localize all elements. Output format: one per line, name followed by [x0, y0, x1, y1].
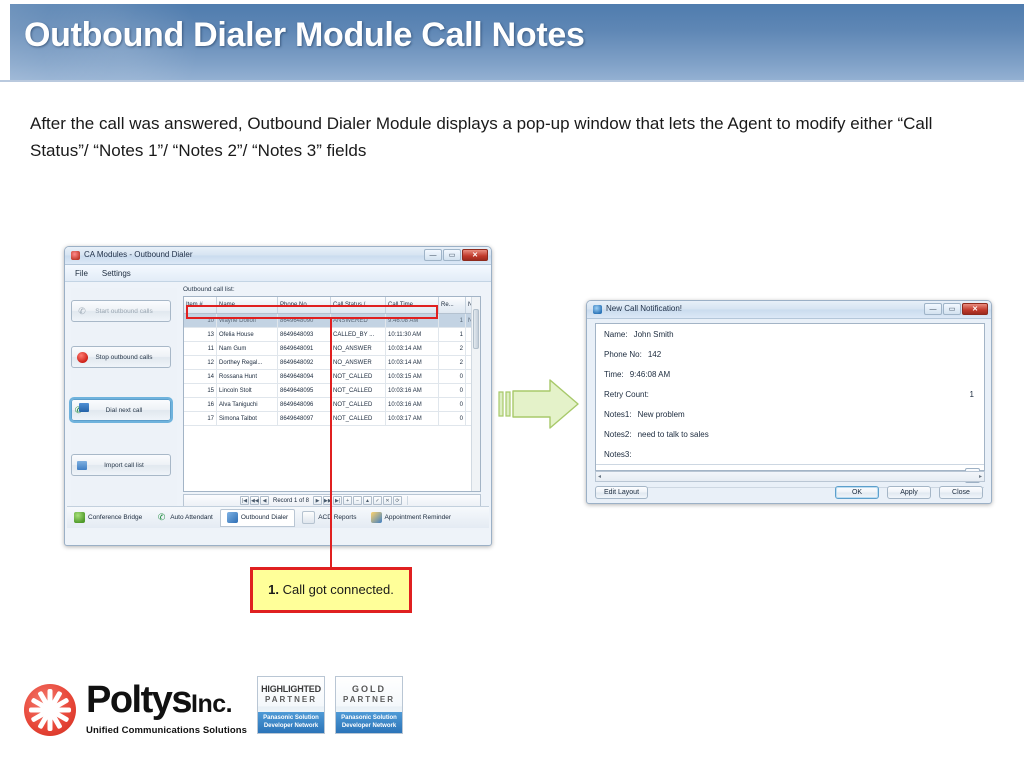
- cell-item: 12: [184, 356, 217, 370]
- brand-name-suffix: Inc.: [191, 690, 232, 718]
- nav-cancel-button[interactable]: ✕: [383, 496, 392, 505]
- badge-gold-partner: GOLD PARTNER Panasonic Solution Develope…: [335, 676, 403, 734]
- callout-body: Call got connected.: [283, 582, 394, 597]
- cell-retry: 2: [439, 342, 466, 356]
- field-label: Notes1:: [604, 410, 632, 419]
- field-right-value: 1: [970, 390, 974, 399]
- import-list-icon: [72, 455, 92, 475]
- notification-field-5[interactable]: Notes1:New problem: [596, 404, 984, 424]
- cell-call-status: NOT_CALLED: [331, 412, 386, 426]
- notification-fields-panel: Name:John SmithPhone No:142Time:9:46:08 …: [595, 323, 985, 471]
- cell-phone: 8649648096: [278, 398, 331, 412]
- minimize-button[interactable]: —: [424, 249, 442, 261]
- cell-call-status: NOT_CALLED: [331, 384, 386, 398]
- window-body: ✆ Start outbound calls Stop outbound cal…: [65, 282, 491, 530]
- tab-outbound-dialer[interactable]: Outbound Dialer: [220, 509, 295, 527]
- notification-field-list: Name:John SmithPhone No:142Time:9:46:08 …: [596, 324, 984, 464]
- cell-phone: 8649648095: [278, 384, 331, 398]
- field-label: Notes2:: [604, 430, 632, 439]
- nav-prev-button[interactable]: ◀: [260, 496, 269, 505]
- action-button-column: ✆ Start outbound calls Stop outbound cal…: [71, 288, 177, 520]
- ok-button[interactable]: OK: [835, 486, 879, 499]
- notification-window-controls[interactable]: — ▭ ✕: [924, 303, 988, 315]
- poltys-wordmark: PoltysInc. Unified Communications Soluti…: [86, 681, 247, 736]
- cell-retry: 1: [439, 328, 466, 342]
- cell-item: 15: [184, 384, 217, 398]
- notification-field-6[interactable]: Notes2:need to talk to sales: [596, 424, 984, 444]
- field-value: need to talk to sales: [638, 430, 709, 439]
- record-position-label: Record 1 of 8: [273, 498, 309, 504]
- apply-button[interactable]: Apply: [887, 486, 931, 499]
- stop-call-icon: [72, 347, 92, 367]
- cell-call-time: 10:03:16 AM: [386, 384, 439, 398]
- table-row[interactable]: 11Nam Gum8649648091NO_ANSWER10:03:14 AM2: [184, 342, 481, 356]
- badge-highlighted-footer: Panasonic Solution Developer Network: [258, 712, 324, 733]
- nav-remove-button[interactable]: −: [353, 496, 362, 505]
- cell-name: Nam Gum: [217, 342, 278, 356]
- scroll-right-arrow-icon[interactable]: ▸: [979, 473, 982, 480]
- badge-highlighted-foot1: Panasonic Solution: [258, 714, 324, 722]
- cell-call-time: 10:11:30 AM: [386, 328, 439, 342]
- table-row[interactable]: 15Lincoln Stolt8649648095NOT_CALLED10:03…: [184, 384, 481, 398]
- cell-retry: 0: [439, 412, 466, 426]
- cell-call-time: 10:03:17 AM: [386, 412, 439, 426]
- cell-name: Rossana Hunt: [217, 370, 278, 384]
- slide-canvas: Outbound Dialer Module Call Notes After …: [0, 0, 1024, 768]
- cell-retry: 2: [439, 356, 466, 370]
- cell-call-status: NO_ANSWER: [331, 356, 386, 370]
- nav-add-button[interactable]: +: [343, 496, 352, 505]
- cell-call-time: 10:03:14 AM: [386, 342, 439, 356]
- calendar-icon: [371, 512, 382, 523]
- notification-footer: Edit Layout OK Apply Close: [587, 481, 991, 503]
- cell-retry: 0: [439, 398, 466, 412]
- cell-retry: 0: [439, 370, 466, 384]
- window-titlebar[interactable]: CA Modules - Outbound Dialer — ▭ ✕: [65, 247, 491, 265]
- import-call-list-button[interactable]: Import call list: [71, 454, 171, 476]
- start-outbound-calls-label: Start outbound calls: [92, 308, 170, 315]
- notification-field-4[interactable]: Retry Count:1: [596, 384, 984, 404]
- nav-edit-button[interactable]: ▲: [363, 496, 372, 505]
- cell-phone: 8649648091: [278, 342, 331, 356]
- cell-call-status: NO_ANSWER: [331, 342, 386, 356]
- tab-appointment-reminder[interactable]: Appointment Reminder: [364, 509, 458, 527]
- notification-minimize-button[interactable]: —: [924, 303, 942, 315]
- cell-call-status: CALLED_BY ...: [331, 328, 386, 342]
- brand-footer: PoltysInc. Unified Communications Soluti…: [24, 676, 403, 736]
- cell-retry: 0: [439, 384, 466, 398]
- badge-highlighted-foot2: Developer Network: [258, 722, 324, 730]
- app-icon: [71, 251, 80, 260]
- cell-item: 17: [184, 412, 217, 426]
- flow-arrow-icon: [498, 378, 580, 430]
- new-call-notification-window[interactable]: New Call Notification! — ▭ ✕ Name:John S…: [586, 300, 992, 504]
- dial-next-call-button[interactable]: ✆ Dial next call: [71, 399, 171, 421]
- field-value: John Smith: [634, 330, 674, 339]
- callout-connector-line: [330, 318, 332, 567]
- call-list-label: Outbound call list:: [183, 286, 235, 293]
- field-value: New problem: [638, 410, 685, 419]
- badge-gold-line2: PARTNER: [343, 695, 395, 704]
- start-outbound-calls-button[interactable]: ✆ Start outbound calls: [71, 300, 171, 322]
- notification-field-1[interactable]: Name:John Smith: [596, 324, 984, 344]
- import-call-list-label: Import call list: [92, 462, 170, 469]
- badge-gold-foot2: Developer Network: [336, 722, 402, 730]
- call-list-panel[interactable]: Item # Name Phone No Call Status / Call …: [183, 296, 481, 492]
- cell-call-time: 10:03:14 AM: [386, 356, 439, 370]
- nav-prev-page-button[interactable]: ◀◀: [250, 496, 259, 505]
- cell-phone: 8649648094: [278, 370, 331, 384]
- table-row[interactable]: 13Ofelia House8649648093CALLED_BY ...10:…: [184, 328, 481, 342]
- dial-next-icon: ✆: [72, 400, 92, 420]
- stop-outbound-calls-button[interactable]: Stop outbound calls: [71, 346, 171, 368]
- tab-conference-bridge[interactable]: Conference Bridge: [67, 509, 149, 527]
- page-title: Outbound Dialer Module Call Notes: [24, 16, 585, 55]
- cell-call-status: NOT_CALLED: [331, 370, 386, 384]
- phone-outline-icon: ✆: [72, 301, 92, 321]
- badge-highlighted-line1: HIGHLIGHTED: [261, 684, 321, 694]
- edit-layout-button[interactable]: Edit Layout: [595, 486, 648, 499]
- field-label: Retry Count:: [604, 390, 649, 399]
- dialer-icon: [227, 512, 238, 523]
- cell-name: Lincoln Stolt: [217, 384, 278, 398]
- notification-field-7[interactable]: Notes3:: [596, 444, 984, 464]
- badge-gold-foot1: Panasonic Solution: [336, 714, 402, 722]
- intro-paragraph: After the call was answered, Outbound Di…: [30, 110, 970, 164]
- col-header-retry[interactable]: Re...: [439, 297, 466, 314]
- tab-auto-attendant[interactable]: ✆ Auto Attendant: [149, 509, 220, 527]
- notification-close-button[interactable]: ✕: [962, 303, 988, 315]
- cell-item: 14: [184, 370, 217, 384]
- notification-action-buttons: OK Apply Close: [835, 486, 983, 499]
- brand-name: PoltysInc.: [86, 681, 247, 723]
- record-nav-filler: [407, 496, 480, 505]
- cell-item: 16: [184, 398, 217, 412]
- selected-row-highlight: [186, 305, 438, 319]
- cell-name: Dorthey Regal...: [217, 356, 278, 370]
- field-label: Notes3:: [604, 450, 632, 459]
- tab-outbound-dialer-label: Outbound Dialer: [241, 514, 288, 521]
- notification-title: New Call Notification!: [606, 304, 682, 313]
- close-button[interactable]: ✕: [462, 249, 488, 261]
- cell-phone: 8649648097: [278, 412, 331, 426]
- nav-post-button[interactable]: ✓: [373, 496, 382, 505]
- nav-first-button[interactable]: |◀: [240, 496, 249, 505]
- scrollbar-thumb[interactable]: [473, 309, 479, 349]
- reports-icon: [302, 511, 315, 524]
- nav-last-button[interactable]: ▶|: [333, 496, 342, 505]
- table-row[interactable]: 16Alva Taniguchi8649648096NOT_CALLED10:0…: [184, 398, 481, 412]
- cell-name: Ofelia House: [217, 328, 278, 342]
- notification-maximize-button[interactable]: ▭: [943, 303, 961, 315]
- conference-icon: [74, 512, 85, 523]
- menu-settings[interactable]: Settings: [102, 269, 131, 278]
- callout-box: 1. Call got connected.: [250, 567, 412, 613]
- badge-gold-line1: GOLD: [352, 684, 386, 694]
- callout-text: 1. Call got connected.: [268, 581, 394, 599]
- field-label: Phone No:: [604, 350, 642, 359]
- nav-refresh-button[interactable]: ⟳: [393, 496, 402, 505]
- tab-appointment-reminder-label: Appointment Reminder: [385, 514, 451, 521]
- field-value: 9:46:08 AM: [630, 370, 670, 379]
- maximize-button[interactable]: ▭: [443, 249, 461, 261]
- dial-next-call-label: Dial next call: [92, 407, 170, 414]
- stop-outbound-calls-label: Stop outbound calls: [92, 354, 170, 361]
- cell-item: 11: [184, 342, 217, 356]
- tab-conference-bridge-label: Conference Bridge: [88, 514, 142, 521]
- notification-icon: [593, 305, 602, 314]
- cell-call-time: 10:03:16 AM: [386, 398, 439, 412]
- field-value: 142: [648, 350, 661, 359]
- nav-next-button[interactable]: ▶: [313, 496, 322, 505]
- menu-file[interactable]: File: [75, 269, 88, 278]
- cell-name: Simona Talbot: [217, 412, 278, 426]
- badge-gold-footer: Panasonic Solution Developer Network: [336, 712, 402, 733]
- field-label: Time:: [604, 370, 624, 379]
- scroll-left-arrow-icon[interactable]: ◂: [598, 473, 601, 480]
- cell-phone: 8649648092: [278, 356, 331, 370]
- cell-phone: 8649648093: [278, 328, 331, 342]
- poltys-logo-icon: [24, 684, 76, 736]
- brand-tagline: Unified Communications Solutions: [86, 725, 247, 736]
- grid-vertical-scrollbar[interactable]: [471, 297, 480, 491]
- cell-call-status: NOT_CALLED: [331, 398, 386, 412]
- badge-highlighted-partner: HIGHLIGHTED PARTNER Panasonic Solution D…: [257, 676, 325, 734]
- menu-bar[interactable]: File Settings: [65, 265, 491, 282]
- field-label: Name:: [604, 330, 628, 339]
- close-dialog-button[interactable]: Close: [939, 486, 983, 499]
- callout-number: 1.: [268, 582, 279, 597]
- window-title: CA Modules - Outbound Dialer: [84, 250, 193, 259]
- table-row[interactable]: 17Simona Talbot8649648097NOT_CALLED10:03…: [184, 412, 481, 426]
- phone-icon: ✆: [156, 512, 167, 523]
- outbound-dialer-window[interactable]: CA Modules - Outbound Dialer — ▭ ✕ File …: [64, 246, 492, 546]
- tab-auto-attendant-label: Auto Attendant: [170, 514, 213, 521]
- badge-highlighted-line2: PARTNER: [265, 695, 317, 704]
- cell-item: 13: [184, 328, 217, 342]
- window-controls[interactable]: — ▭ ✕: [424, 249, 488, 261]
- cell-retry: 1: [439, 314, 466, 328]
- notification-field-3[interactable]: Time:9:46:08 AM: [596, 364, 984, 384]
- notification-titlebar[interactable]: New Call Notification! — ▭ ✕: [587, 301, 991, 319]
- table-row[interactable]: 14Rossana Hunt8649648094NOT_CALLED10:03:…: [184, 370, 481, 384]
- brand-name-main: Poltys: [86, 679, 191, 721]
- header-divider: [0, 80, 1024, 82]
- cell-call-time: 10:03:15 AM: [386, 370, 439, 384]
- table-row[interactable]: 12Dorthey Regal...8649648092NO_ANSWER10:…: [184, 356, 481, 370]
- notification-field-2[interactable]: Phone No:142: [596, 344, 984, 364]
- cell-name: Alva Taniguchi: [217, 398, 278, 412]
- tab-acd-reports-label: ACD Reports: [318, 514, 356, 521]
- module-tab-bar[interactable]: Conference Bridge ✆ Auto Attendant Outbo…: [67, 506, 489, 528]
- call-list-body: 10Wayne Dolloff8649648090ANSWERED9:46:08…: [184, 314, 481, 426]
- header-left-edge: [0, 4, 10, 80]
